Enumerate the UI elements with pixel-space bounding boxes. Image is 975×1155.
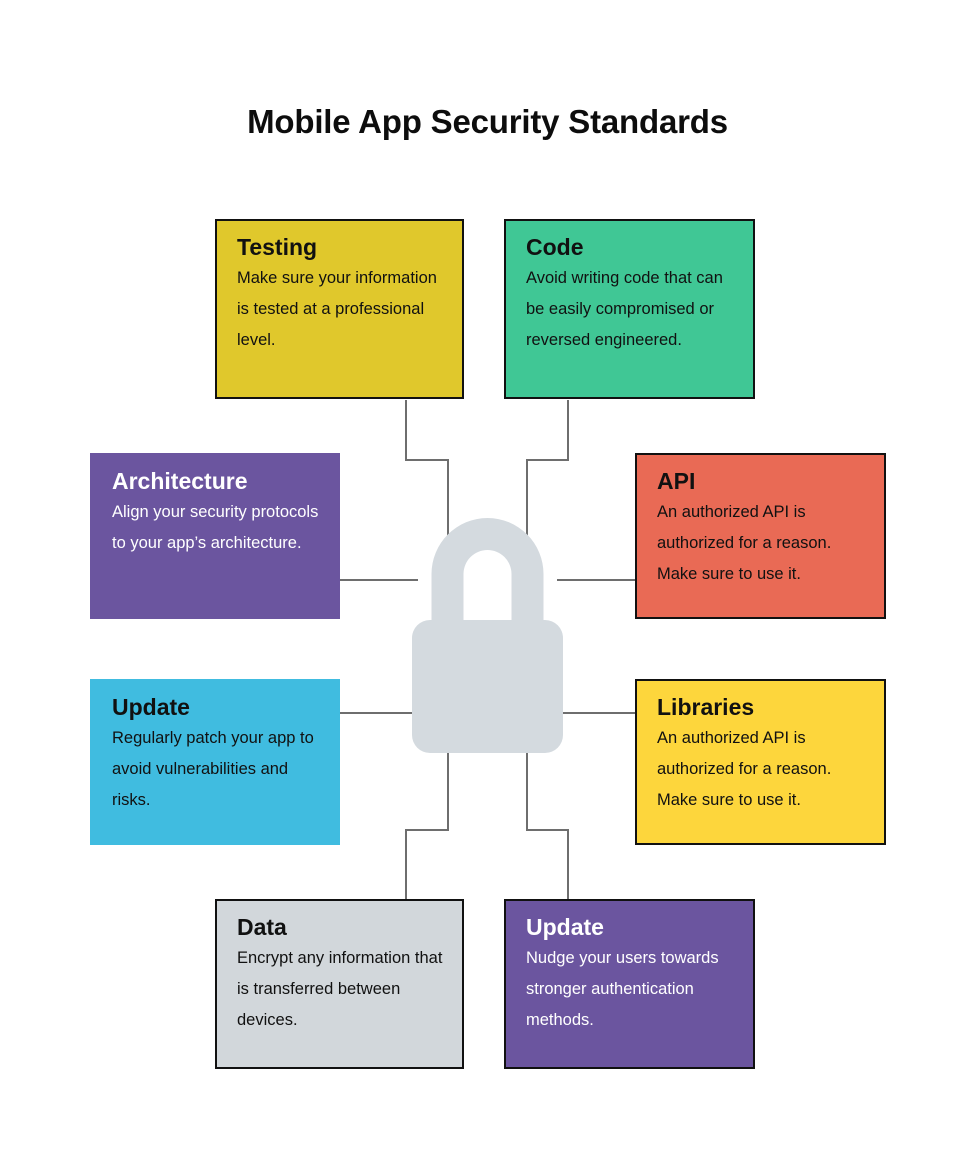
diagram-canvas: Mobile App Security Standards bbox=[0, 0, 975, 1155]
card-body: Regularly patch your app to avoid vulner… bbox=[112, 723, 324, 817]
card-api[interactable]: API An authorized API is authorized for … bbox=[635, 453, 886, 619]
card-update-left[interactable]: Update Regularly patch your app to avoid… bbox=[90, 679, 340, 845]
card-update-right[interactable]: Update Nudge your users towards stronger… bbox=[504, 899, 755, 1069]
card-title: Architecture bbox=[112, 469, 324, 495]
card-title: Testing bbox=[237, 235, 446, 261]
card-data[interactable]: Data Encrypt any information that is tra… bbox=[215, 899, 464, 1069]
card-testing[interactable]: Testing Make sure your information is te… bbox=[215, 219, 464, 399]
card-title: Code bbox=[526, 235, 737, 261]
card-body: Encrypt any information that is transfer… bbox=[237, 943, 446, 1037]
card-body: An authorized API is authorized for a re… bbox=[657, 497, 868, 591]
card-body: Make sure your information is tested at … bbox=[237, 263, 446, 357]
card-body: An authorized API is authorized for a re… bbox=[657, 723, 868, 817]
card-code[interactable]: Code Avoid writing code that can be easi… bbox=[504, 219, 755, 399]
card-libraries[interactable]: Libraries An authorized API is authorize… bbox=[635, 679, 886, 845]
lock-shackle bbox=[432, 518, 544, 628]
card-architecture[interactable]: Architecture Align your security protoco… bbox=[90, 453, 340, 619]
card-body: Align your security protocols to your ap… bbox=[112, 497, 324, 560]
lock-body bbox=[412, 620, 563, 753]
card-title: API bbox=[657, 469, 868, 495]
card-title: Libraries bbox=[657, 695, 868, 721]
card-title: Data bbox=[237, 915, 446, 941]
card-body: Nudge your users towards stronger authen… bbox=[526, 943, 737, 1037]
card-body: Avoid writing code that can be easily co… bbox=[526, 263, 737, 357]
card-title: Update bbox=[526, 915, 737, 941]
card-title: Update bbox=[112, 695, 324, 721]
